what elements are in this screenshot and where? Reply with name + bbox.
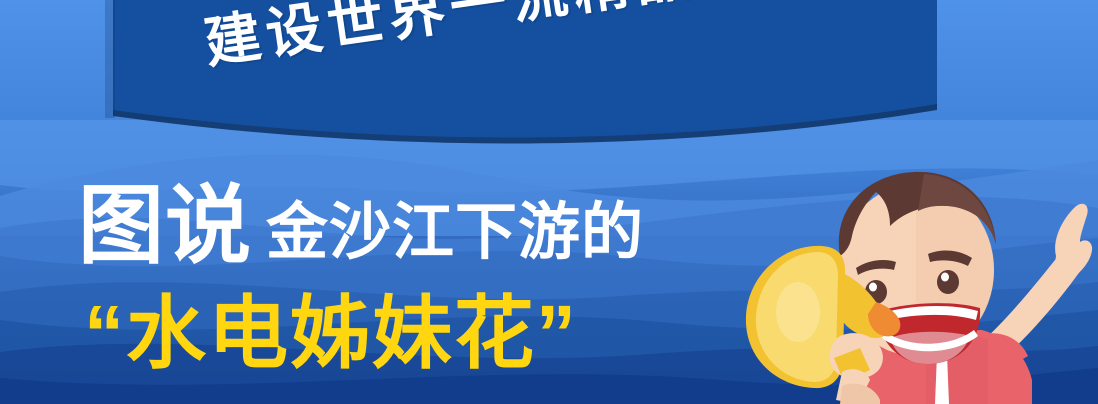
mascot-illustration xyxy=(690,160,1098,404)
mascot-eye-left-highlight xyxy=(869,283,877,292)
title-rest: 金沙江下游的 xyxy=(266,202,644,268)
title-emphasis: 图说 xyxy=(78,186,252,268)
ribbon-header: 建设世界一流精品工程 xyxy=(0,0,1098,150)
mascot-eye-right-highlight xyxy=(941,273,949,282)
page-subtitle: “水电姊妹花” xyxy=(84,294,578,374)
page-title: 图说 金沙江下游的 xyxy=(78,186,644,268)
mascot-eye-right xyxy=(937,270,959,294)
megaphone-cone-gloss xyxy=(776,282,820,342)
cheering-man-with-megaphone-icon xyxy=(690,160,1098,404)
promo-banner: 建设世界一流精品工程 图说 金沙江下游的 “水电姊妹花” xyxy=(0,0,1098,404)
mascot-pointing-hand xyxy=(1054,204,1092,280)
